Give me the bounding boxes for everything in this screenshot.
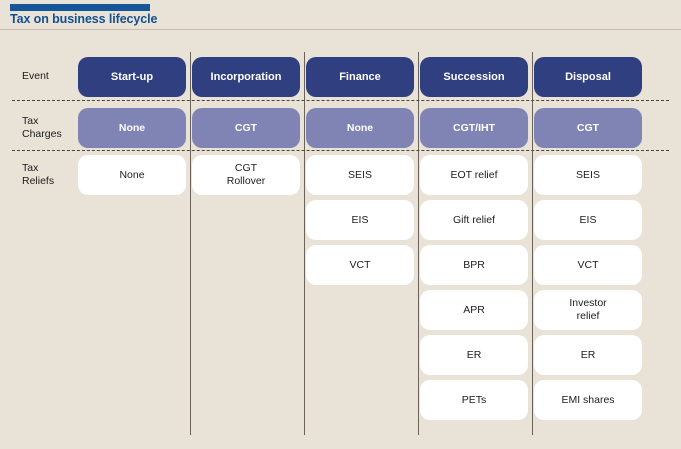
column-divider-1 xyxy=(190,52,191,435)
event-card-disposal-label: Disposal xyxy=(561,71,615,84)
tax-relief-card-finance-seis-label: SEIS xyxy=(344,169,376,182)
event-card-start-up-label: Start-up xyxy=(107,71,157,84)
tax-relief-card-disposal-eis: EIS xyxy=(534,200,642,240)
tax-relief-card-succession-gift-relief-label: Gift relief xyxy=(449,214,499,227)
tax-relief-card-succession-apr: APR xyxy=(420,290,528,330)
tax-relief-card-disposal-seis-label: SEIS xyxy=(572,169,604,182)
tax-relief-card-finance-eis: EIS xyxy=(306,200,414,240)
tax-relief-card-succession-er-label: ER xyxy=(463,349,486,362)
event-card-incorporation-label: Incorporation xyxy=(207,71,286,84)
column-divider-2 xyxy=(304,52,305,435)
column-divider-4 xyxy=(532,52,533,435)
tax-charge-card-succession: CGT/IHT xyxy=(420,108,528,148)
tax-relief-card-disposal-investor-relief-label: Investorrelief xyxy=(565,297,610,323)
tax-charge-card-finance: None xyxy=(306,108,414,148)
tax-relief-card-disposal-vct-label: VCT xyxy=(574,259,603,272)
tax-charge-card-incorporation: CGT xyxy=(192,108,300,148)
tax-relief-card-succession-pets: PETs xyxy=(420,380,528,420)
row-label-tax-reliefs-line: Reliefs xyxy=(22,175,76,188)
row-label-event-line: Event xyxy=(22,70,76,83)
row-label-tax-charges: TaxCharges xyxy=(22,115,76,141)
event-card-finance-label: Finance xyxy=(335,71,385,84)
tax-relief-card-succession-bpr-label: BPR xyxy=(459,259,489,272)
tax-charge-card-finance-label: None xyxy=(343,122,377,135)
tax-charge-card-incorporation-label: CGT xyxy=(231,122,261,135)
tax-relief-card-disposal-investor-relief: Investorrelief xyxy=(534,290,642,330)
row-label-tax-charges-line: Charges xyxy=(22,128,76,141)
row-label-event: Event xyxy=(22,70,76,83)
tax-charge-card-disposal-label: CGT xyxy=(573,122,603,135)
tax-relief-card-succession-apr-label: APR xyxy=(459,304,489,317)
tax-relief-card-disposal-emi-shares-label: EMI shares xyxy=(557,394,618,407)
tax-relief-card-disposal-emi-shares: EMI shares xyxy=(534,380,642,420)
tax-relief-card-start-up-none-label: None xyxy=(115,169,148,182)
tax-relief-card-succession-eot-relief-label: EOT relief xyxy=(446,169,501,182)
column-divider-3 xyxy=(418,52,419,435)
row-label-tax-reliefs-line: Tax xyxy=(22,162,76,175)
title-accent-bar xyxy=(10,4,150,11)
row-divider-2 xyxy=(12,150,669,151)
tax-charge-card-succession-label: CGT/IHT xyxy=(449,122,499,135)
tax-relief-card-incorporation-cgt-rollover: CGTRollover xyxy=(192,155,300,195)
tax-relief-card-incorporation-cgt-rollover-label: CGTRollover xyxy=(223,162,270,188)
tax-relief-card-finance-seis: SEIS xyxy=(306,155,414,195)
tax-relief-card-succession-eot-relief: EOT relief xyxy=(420,155,528,195)
tax-charge-card-disposal: CGT xyxy=(534,108,642,148)
tax-relief-card-start-up-none: None xyxy=(78,155,186,195)
event-card-incorporation: Incorporation xyxy=(192,57,300,97)
row-label-tax-charges-line: Tax xyxy=(22,115,76,128)
tax-relief-card-finance-vct-label: VCT xyxy=(346,259,375,272)
tax-relief-card-finance-eis-label: EIS xyxy=(348,214,373,227)
row-divider-1 xyxy=(12,100,669,101)
diagram-root: Tax on business lifecycle EventTaxCharge… xyxy=(0,0,681,449)
event-card-finance: Finance xyxy=(306,57,414,97)
tax-relief-card-disposal-vct: VCT xyxy=(534,245,642,285)
tax-relief-card-succession-pets-label: PETs xyxy=(458,394,491,407)
tax-relief-card-succession-er: ER xyxy=(420,335,528,375)
tax-relief-card-succession-bpr: BPR xyxy=(420,245,528,285)
tax-relief-card-disposal-er-label: ER xyxy=(577,349,600,362)
page-title: Tax on business lifecycle xyxy=(10,12,157,26)
event-card-succession: Succession xyxy=(420,57,528,97)
tax-charge-card-start-up: None xyxy=(78,108,186,148)
tax-relief-card-finance-vct: VCT xyxy=(306,245,414,285)
tax-relief-card-disposal-eis-label: EIS xyxy=(576,214,601,227)
event-card-disposal: Disposal xyxy=(534,57,642,97)
tax-relief-card-succession-gift-relief: Gift relief xyxy=(420,200,528,240)
event-card-start-up: Start-up xyxy=(78,57,186,97)
title-underline-divider xyxy=(0,29,681,30)
event-card-succession-label: Succession xyxy=(439,71,508,84)
tax-relief-card-disposal-seis: SEIS xyxy=(534,155,642,195)
row-label-tax-reliefs: TaxReliefs xyxy=(22,162,76,188)
tax-relief-card-disposal-er: ER xyxy=(534,335,642,375)
tax-charge-card-start-up-label: None xyxy=(115,122,149,135)
